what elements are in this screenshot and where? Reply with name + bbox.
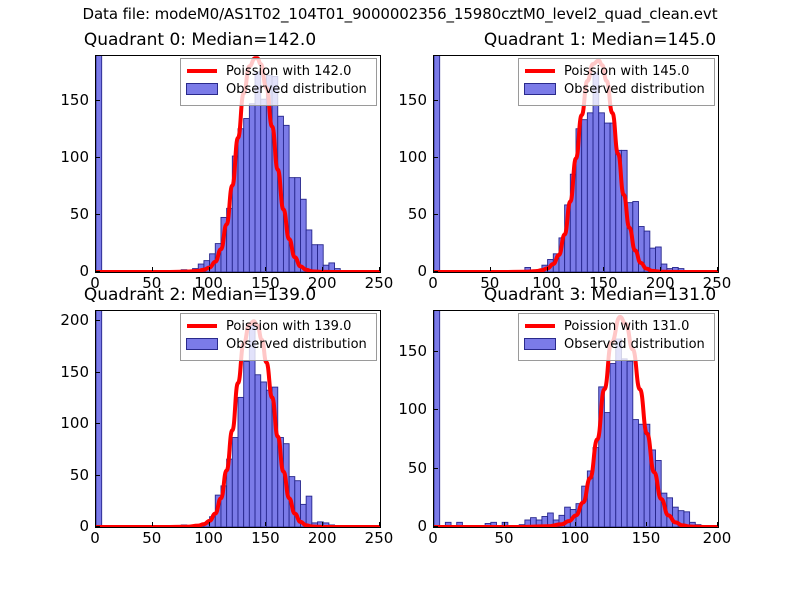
panel-quadrant-1: Quadrant 1: Median=145.0 Poission with 1… — [400, 30, 800, 300]
y-tick-label: 100 — [385, 148, 427, 166]
y-tick-label: 50 — [47, 205, 89, 223]
legend-quadrant-1: Poission with 145.0 Observed distributio… — [518, 58, 715, 106]
y-tick — [95, 100, 100, 101]
y-tick — [95, 157, 100, 158]
y-tick — [95, 372, 100, 373]
x-tick — [504, 522, 505, 526]
y-tick-label: 50 — [385, 459, 427, 477]
x-tick-label: 50 — [142, 529, 161, 547]
x-tick — [265, 267, 266, 271]
patch-key-icon — [523, 337, 557, 351]
y-tick — [95, 214, 100, 215]
x-tick — [379, 267, 380, 271]
y-tick-label: 0 — [47, 262, 89, 280]
line-key-icon — [185, 319, 219, 333]
x-tick — [717, 522, 718, 526]
patch-key-icon — [523, 82, 557, 96]
x-tick-label: 200 — [308, 529, 337, 547]
x-tick — [152, 522, 153, 526]
panel-title-quadrant-0: Quadrant 0: Median=142.0 — [0, 30, 400, 50]
panel-title-quadrant-2: Quadrant 2: Median=139.0 — [0, 285, 400, 305]
legend-quadrant-2: Poission with 139.0 Observed distributio… — [180, 313, 377, 361]
x-tick — [322, 267, 323, 271]
x-tick — [575, 522, 576, 526]
line-key-icon — [523, 64, 557, 78]
x-tick — [603, 267, 604, 271]
legend-item-observed: Observed distribution — [185, 335, 371, 353]
x-tick — [209, 522, 210, 526]
legend-item-observed: Observed distribution — [523, 335, 709, 353]
x-tick — [322, 522, 323, 526]
x-tick-label: 200 — [703, 529, 732, 547]
y-tick — [95, 423, 100, 424]
x-tick — [646, 522, 647, 526]
x-tick — [379, 522, 380, 526]
legend-item-poisson: Poission with 131.0 — [523, 317, 709, 335]
x-tick-label: 0 — [428, 529, 438, 547]
y-tick — [95, 475, 100, 476]
x-tick — [717, 267, 718, 271]
panel-title-quadrant-3: Quadrant 3: Median=131.0 — [400, 285, 800, 305]
patch-key-icon — [185, 82, 219, 96]
x-tick — [660, 267, 661, 271]
panel-title-quadrant-1: Quadrant 1: Median=145.0 — [400, 30, 800, 50]
y-tick — [433, 214, 438, 215]
y-tick-label: 100 — [385, 400, 427, 418]
y-tick-label: 150 — [47, 363, 89, 381]
y-tick-label: 150 — [385, 91, 427, 109]
x-tick-label: 50 — [494, 529, 513, 547]
x-tick — [490, 267, 491, 271]
y-tick — [95, 320, 100, 321]
panel-quadrant-2: Quadrant 2: Median=139.0 Poission with 1… — [0, 285, 400, 560]
x-tick — [152, 267, 153, 271]
legend-item-observed: Observed distribution — [185, 80, 371, 98]
y-tick — [433, 351, 438, 352]
y-tick-label: 100 — [47, 414, 89, 432]
x-tick — [265, 522, 266, 526]
x-tick-label: 150 — [632, 529, 661, 547]
figure-suptitle: Data file: modeM0/AS1T02_104T01_90000023… — [0, 5, 800, 23]
x-tick — [209, 267, 210, 271]
line-key-icon — [523, 319, 557, 333]
y-tick-label: 150 — [385, 342, 427, 360]
patch-key-icon — [185, 337, 219, 351]
y-tick-label: 0 — [47, 517, 89, 535]
y-tick — [433, 100, 438, 101]
legend-item-poisson: Poission with 139.0 — [185, 317, 371, 335]
legend-item-poisson: Poission with 145.0 — [523, 62, 709, 80]
y-tick — [95, 526, 100, 527]
x-tick-label: 100 — [561, 529, 590, 547]
legend-item-observed: Observed distribution — [523, 80, 709, 98]
panel-quadrant-3: Quadrant 3: Median=131.0 Poission with 1… — [400, 285, 800, 560]
x-tick-label: 0 — [90, 529, 100, 547]
y-tick — [433, 409, 438, 410]
legend-quadrant-3: Poission with 131.0 Observed distributio… — [518, 313, 715, 361]
x-tick-label: 150 — [251, 529, 280, 547]
y-tick — [433, 468, 438, 469]
legend-quadrant-0: Poission with 142.0 Observed distributio… — [180, 58, 377, 106]
y-tick-label: 0 — [385, 517, 427, 535]
x-tick — [547, 267, 548, 271]
line-key-icon — [185, 64, 219, 78]
y-tick-label: 0 — [385, 262, 427, 280]
y-tick-label: 100 — [47, 148, 89, 166]
y-tick — [433, 526, 438, 527]
y-tick-label: 50 — [47, 466, 89, 484]
y-tick-label: 200 — [47, 311, 89, 329]
panel-quadrant-0: Quadrant 0: Median=142.0 Poission with 1… — [0, 30, 400, 300]
legend-item-poisson: Poission with 142.0 — [185, 62, 371, 80]
y-tick-label: 150 — [47, 91, 89, 109]
y-tick — [433, 157, 438, 158]
y-tick-label: 50 — [385, 205, 427, 223]
figure-root: Data file: modeM0/AS1T02_104T01_90000023… — [0, 0, 800, 600]
y-tick — [433, 271, 438, 272]
x-tick-label: 100 — [194, 529, 223, 547]
y-tick — [95, 271, 100, 272]
